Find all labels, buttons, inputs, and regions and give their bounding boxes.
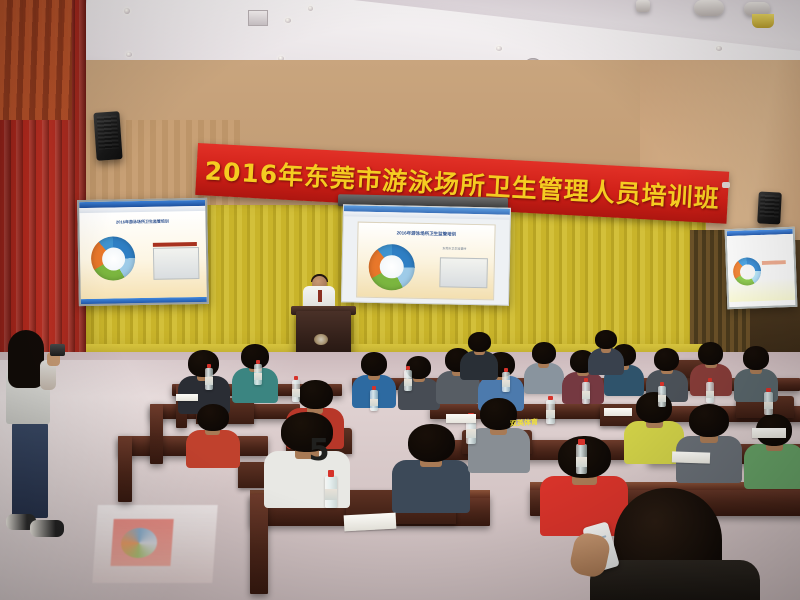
curtain-valance (0, 0, 72, 120)
handout-paper (752, 428, 786, 438)
water-bottle (370, 390, 378, 411)
attendee-head (743, 346, 769, 370)
bottle-cap (584, 378, 588, 382)
bottle-cap (207, 364, 211, 368)
audience-member (744, 414, 800, 486)
audience-member (178, 350, 230, 412)
bottle-cap (548, 396, 553, 401)
slide-accent-bar (153, 242, 197, 247)
water-bottle (658, 386, 666, 407)
ceiling-spotlight-icon (694, 0, 724, 16)
handout-paper (604, 408, 632, 416)
bottle-label (764, 402, 773, 410)
bottle-label (582, 391, 590, 398)
water-bottle (404, 370, 412, 391)
bottle-label (546, 410, 555, 418)
slide-title: 2016年游泳场所卫生监管培训 (82, 218, 202, 226)
photographer-legs (12, 420, 48, 518)
bottle-cap (294, 376, 298, 380)
desk-side-panel (118, 436, 132, 502)
bottle-label (370, 399, 378, 406)
downlight-icon (716, 46, 722, 51)
attendee-head (468, 332, 491, 352)
wall-speaker-left (93, 111, 122, 161)
bottle-label (404, 379, 412, 386)
wall-speaker-right (757, 191, 782, 224)
attendee-head (698, 342, 723, 365)
ceiling-spotlight-icon (636, 0, 650, 12)
slide-area (727, 233, 795, 302)
bottle-cap (766, 388, 771, 393)
water-bottle (546, 400, 555, 424)
ceiling-panel (248, 10, 268, 26)
water-bottle (576, 444, 587, 474)
desk-side-panel (250, 494, 268, 594)
water-bottle (292, 380, 300, 402)
audience-member (186, 404, 240, 466)
audience-member (468, 398, 530, 470)
handout-paper (176, 394, 198, 401)
downlight-icon (308, 6, 313, 11)
camera-icon (50, 344, 65, 356)
attendee-head (197, 404, 229, 431)
bottle-label (325, 489, 337, 500)
right-wall-display (725, 227, 798, 309)
bottle-cap (578, 439, 584, 445)
downlight-icon (126, 52, 132, 57)
attendee-torso (392, 460, 470, 513)
slide-area: 2016年游泳场所卫生监管培训 (79, 211, 206, 299)
photographer-shoe (30, 520, 64, 537)
bottle-label (205, 377, 213, 384)
water-bottle (325, 476, 337, 508)
slide-circle-graphic (368, 243, 415, 290)
attendee-head (595, 330, 617, 349)
handout-paper (344, 513, 397, 532)
slide-canvas: 2016年游泳场所卫生监管培训 东莞市卫生监督所 (356, 221, 496, 301)
bottle-label (466, 429, 476, 438)
attendee-head (188, 350, 219, 377)
bottle-cap (372, 386, 376, 390)
attendee-head (636, 392, 672, 423)
bottle-label (706, 391, 714, 398)
attendee-head (408, 424, 455, 462)
attendee-head (654, 348, 679, 371)
bottle-cap (660, 382, 664, 386)
slide-title: 2016年游泳场所卫生监管培训 (358, 229, 494, 238)
bottle-cap (256, 360, 260, 364)
water-bottle (582, 382, 590, 404)
water-bottle (502, 372, 510, 392)
spotlight-beam (752, 14, 774, 28)
attendee-head (298, 380, 333, 409)
slide-photo-thumb (153, 247, 200, 280)
shirt-number: 5 (304, 434, 334, 468)
audience-member (588, 330, 624, 374)
bottle-label (292, 389, 300, 396)
audience-member (676, 404, 742, 480)
attendee-head (361, 352, 387, 376)
slide-subtitle: 东莞市卫生监督所 (442, 246, 466, 251)
conference-hall-photo: 2016年东莞市游泳场所卫生管理人员培训班 2016年游泳场所卫生监管培训 20… (0, 0, 800, 600)
slide-circle-graphic (91, 236, 136, 281)
water-bottle (254, 364, 262, 385)
slide-circle-graphic (733, 257, 762, 286)
bottle-cap (504, 368, 508, 372)
desk-side-panel (150, 404, 163, 464)
presenter-tie (318, 290, 322, 302)
audience-member (392, 424, 470, 510)
attendee-torso (186, 430, 240, 468)
wall-camera-icon (722, 182, 730, 188)
audience-member (524, 342, 564, 392)
water-bottle (706, 382, 714, 403)
water-bottle (764, 392, 773, 415)
handout-paper (672, 451, 710, 463)
audience-member (460, 332, 498, 378)
handout-paper (446, 414, 476, 423)
photographer-hair (8, 330, 44, 388)
bottle-label (254, 373, 262, 380)
attendee-head (532, 342, 556, 364)
projection-screen: 2016年游泳场所卫生监管培训 东莞市卫生监督所 (341, 204, 511, 305)
floor-screen-reflection (92, 505, 217, 583)
lectern-emblem-icon (314, 334, 328, 345)
bottle-cap (328, 470, 335, 476)
bottle-label (658, 395, 666, 402)
downlight-icon (496, 46, 502, 51)
left-wall-display: 2016年游泳场所卫生监管培训 (77, 198, 209, 306)
bottle-cap (406, 366, 410, 370)
water-bottle (205, 368, 213, 390)
attendee-torso (460, 351, 498, 380)
bottle-label (502, 380, 510, 387)
bottle-cap (708, 378, 712, 382)
bottle-label (576, 457, 587, 467)
downlight-icon (124, 8, 130, 14)
slide-accent-bar (762, 260, 786, 265)
downlight-icon (285, 18, 291, 23)
slide-photo-thumb (439, 258, 488, 289)
attendee-head (689, 404, 729, 437)
